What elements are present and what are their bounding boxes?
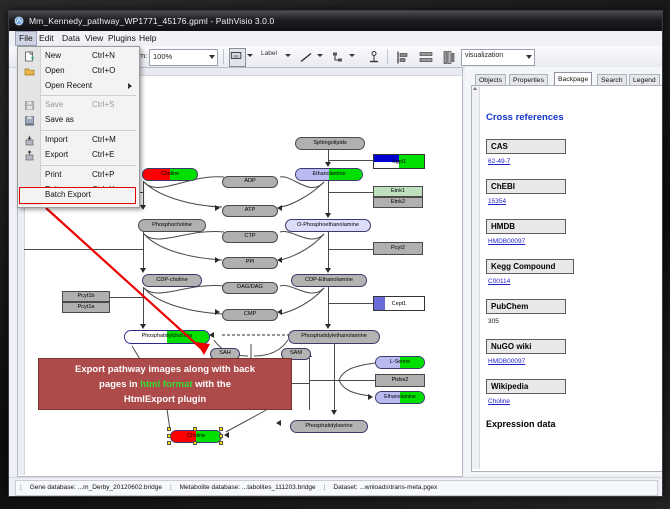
annotation-line-2: pages in html format with the bbox=[39, 377, 291, 392]
chevron-down-icon bbox=[209, 55, 215, 59]
line-icon[interactable] bbox=[297, 48, 315, 67]
file-menu-open-recent[interactable]: Open Recent bbox=[19, 79, 138, 93]
file-menu-export-label: Export bbox=[45, 150, 68, 159]
datanode-button[interactable]: Gn bbox=[229, 48, 246, 67]
annotation-line-2-a: pages in bbox=[99, 379, 140, 390]
status-gene-database: Gene database: ...m_Derby_20120602.bridg… bbox=[26, 484, 166, 491]
xref-label-wikipedia: Wikipedia bbox=[486, 379, 566, 394]
window-title: Mm_Kennedy_pathway_WP1771_45176.gpml - P… bbox=[29, 11, 274, 31]
backpage-content: Cross references CAS 62-49-7 ChEBI 15354… bbox=[471, 85, 663, 472]
status-divider-1: | bbox=[166, 484, 176, 491]
export-icon bbox=[24, 150, 35, 161]
file-menu-save-as[interactable]: Save as bbox=[19, 113, 138, 127]
file-menu-print-label: Print bbox=[45, 170, 61, 179]
xref-value-kegg[interactable]: C00114 bbox=[488, 278, 510, 285]
status-divider-2: | bbox=[320, 484, 330, 491]
zoom-value: 100% bbox=[153, 52, 172, 61]
menu-edit[interactable]: Edit bbox=[36, 32, 57, 45]
expression-data-heading: Expression data bbox=[486, 419, 556, 429]
align-left-icon[interactable] bbox=[394, 48, 412, 67]
screenshot-frame: Mm_Kennedy_pathway_WP1771_45176.gpml - P… bbox=[0, 0, 670, 509]
xref-value-cas[interactable]: 62-49-7 bbox=[488, 158, 510, 165]
file-menu-separator-1 bbox=[41, 95, 136, 96]
xref-value-chebi[interactable]: 15354 bbox=[488, 198, 506, 205]
menu-file[interactable]: File bbox=[15, 31, 37, 46]
zoom-combo[interactable]: 100% bbox=[149, 49, 218, 66]
interaction-dropdown-arrow[interactable] bbox=[349, 54, 355, 57]
file-menu-print[interactable]: Print Ctrl+P bbox=[19, 168, 138, 182]
file-menu-save[interactable]: Save Ctrl+S bbox=[19, 98, 138, 112]
label-button[interactable]: Label bbox=[261, 50, 277, 57]
file-menu-new[interactable]: New Ctrl+N bbox=[19, 49, 138, 63]
xref-value-nugo[interactable]: HMDB00097 bbox=[488, 358, 525, 365]
xref-value-hmdb[interactable]: HMDB00097 bbox=[488, 238, 525, 245]
file-menu-dropdown[interactable]: New Ctrl+N Open Ctrl+O Open Recent bbox=[17, 46, 140, 208]
file-menu-save-as-label: Save as bbox=[45, 115, 74, 124]
file-menu-save-accel: Ctrl+S bbox=[92, 100, 114, 109]
title-bar: Mm_Kennedy_pathway_WP1771_45176.gpml - P… bbox=[9, 11, 662, 31]
file-menu-open-recent-label: Open Recent bbox=[45, 81, 92, 90]
file-menu-new-label: New bbox=[45, 51, 61, 60]
xref-label-pubchem: PubChem bbox=[486, 299, 566, 314]
label-dropdown-arrow[interactable] bbox=[285, 54, 291, 57]
pathvisio-window: Mm_Kennedy_pathway_WP1771_45176.gpml - P… bbox=[8, 10, 663, 497]
annotation-line-1: Export pathway images along with back bbox=[39, 362, 291, 377]
visualization-combo[interactable]: visualization bbox=[461, 49, 535, 66]
toolbar-separator bbox=[223, 49, 224, 64]
xref-label-nugo: NuGO wiki bbox=[486, 339, 566, 354]
anchor-icon[interactable] bbox=[365, 48, 383, 67]
import-icon bbox=[24, 135, 35, 146]
status-bar: |Gene database: ...m_Derby_20120602.brid… bbox=[9, 477, 662, 497]
xref-label-hmdb: HMDB bbox=[486, 219, 566, 234]
menu-plugins[interactable]: Plugins bbox=[105, 32, 139, 45]
status-bar-content: |Gene database: ...m_Derby_20120602.brid… bbox=[15, 480, 658, 496]
annotation-line-3: HtmlExport plugin bbox=[39, 392, 291, 407]
file-menu-print-accel: Ctrl+P bbox=[92, 170, 114, 179]
file-menu-import-label: Import bbox=[45, 135, 68, 144]
file-menu-open-accel: Ctrl+O bbox=[92, 66, 115, 75]
side-panel-tabs: Objects Properties Backpage Search Legen… bbox=[471, 72, 663, 86]
file-menu-import[interactable]: Import Ctrl+M bbox=[19, 133, 138, 147]
file-menu-separator-2 bbox=[41, 130, 136, 131]
align-distribute-icon[interactable] bbox=[417, 48, 435, 67]
toolbar-separator-2 bbox=[387, 49, 388, 64]
file-menu-open[interactable]: Open Ctrl+O bbox=[19, 64, 138, 78]
xref-label-cas: CAS bbox=[486, 139, 566, 154]
xref-label-chebi: ChEBI bbox=[486, 179, 566, 194]
file-menu-batch-export[interactable]: Batch Export bbox=[19, 187, 136, 204]
new-document-icon bbox=[24, 51, 35, 62]
visualization-value: visualization bbox=[465, 52, 503, 59]
svg-text:Gn: Gn bbox=[233, 53, 238, 58]
line-dropdown-arrow[interactable] bbox=[317, 54, 323, 57]
backpage-scrollbar[interactable] bbox=[472, 86, 480, 469]
chevron-right-icon bbox=[128, 83, 132, 89]
xref-value-pubchem: 305 bbox=[488, 318, 499, 325]
file-menu-new-accel: Ctrl+N bbox=[92, 51, 115, 60]
cross-references-heading: Cross references bbox=[486, 112, 564, 123]
status-metabolite-database: Metabolite database: ...tabolites_111203… bbox=[176, 484, 320, 491]
datanode-icon: Gn bbox=[230, 49, 243, 62]
open-folder-icon bbox=[24, 66, 35, 77]
save-as-icon bbox=[24, 115, 35, 126]
file-menu-separator-3 bbox=[41, 165, 136, 166]
file-menu-export[interactable]: Export Ctrl+E bbox=[19, 148, 138, 162]
menu-bar: File Edit Data View Plugins Help bbox=[9, 31, 662, 47]
menu-data[interactable]: Data bbox=[59, 32, 83, 45]
pathvisio-icon bbox=[14, 16, 24, 26]
xref-value-wikipedia[interactable]: Choline bbox=[488, 398, 510, 405]
file-menu-import-accel: Ctrl+M bbox=[92, 135, 116, 144]
file-menu-batch-export-label: Batch Export bbox=[45, 190, 91, 199]
file-menu-open-label: Open bbox=[45, 66, 65, 75]
file-menu-export-accel: Ctrl+E bbox=[92, 150, 114, 159]
xref-label-kegg: Kegg Compound bbox=[486, 259, 574, 274]
interaction-icon[interactable] bbox=[329, 48, 347, 67]
annotation-line-2-b: with the bbox=[192, 379, 231, 390]
chevron-down-icon-2 bbox=[526, 55, 532, 59]
scroll-up-icon[interactable] bbox=[473, 87, 477, 90]
menu-view[interactable]: View bbox=[82, 32, 106, 45]
status-dataset: Dataset: ...wnloads\trans-meta.pgex bbox=[329, 484, 441, 491]
annotation-highlight: html format bbox=[140, 379, 192, 390]
status-divider-0: | bbox=[16, 484, 26, 491]
datanode-dropdown-arrow[interactable] bbox=[247, 54, 253, 57]
menu-help[interactable]: Help bbox=[136, 32, 159, 45]
stack-icon[interactable] bbox=[440, 48, 458, 67]
side-panel: Objects Properties Backpage Search Legen… bbox=[465, 67, 663, 475]
annotation-callout: Export pathway images along with back pa… bbox=[38, 358, 292, 410]
save-disk-icon bbox=[24, 100, 35, 111]
file-menu-save-label: Save bbox=[45, 100, 63, 109]
